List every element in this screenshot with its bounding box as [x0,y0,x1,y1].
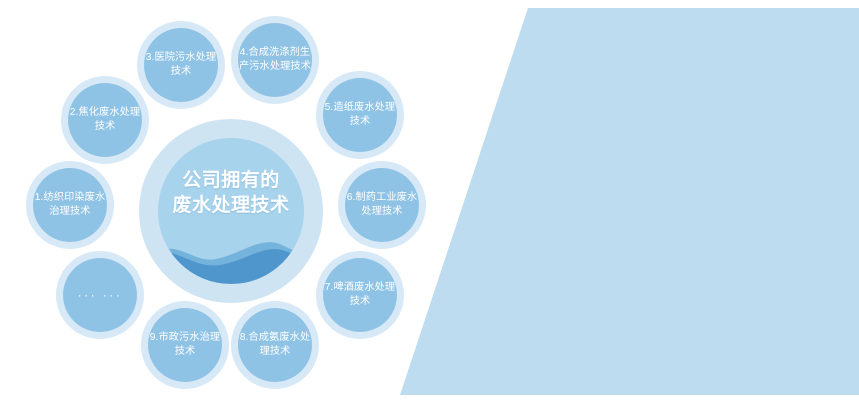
node-7[interactable]: 7.啤酒废水处理技术 [316,251,404,339]
node-6-circle: 6.制药工业废水处理技术 [345,168,419,242]
hub-node[interactable]: 公司拥有的 废水处理技术 [139,119,323,303]
hub-title-line-2: 废水处理技术 [158,193,304,218]
node-4[interactable]: 4.合成洗涤剂生产污水处理技术 [231,16,319,104]
node-6[interactable]: 6.制药工业废水处理技术 [338,161,426,249]
node-3-label: 3.医院污水处理技术 [144,51,218,79]
radial-diagram: 公司拥有的 废水处理技术 1.纺织印染废水治理技术 2.焦化废水处理技术 3.医… [0,0,460,407]
node-more-label: ··· ··· [63,289,137,301]
node-8-circle: 8.合成氨废水处理技术 [238,308,312,382]
node-1[interactable]: 1.纺织印染废水治理技术 [26,161,114,249]
node-1-label: 1.纺织印染废水治理技术 [33,191,107,219]
node-1-circle: 1.纺织印染废水治理技术 [33,168,107,242]
hub-title-line-1: 公司拥有的 [158,168,304,193]
node-more-circle: ··· ··· [63,258,137,332]
node-8[interactable]: 8.合成氨废水处理技术 [231,301,319,389]
node-4-label: 4.合成洗涤剂生产污水处理技术 [238,46,312,74]
node-9-circle: 9.市政污水治理技术 [148,308,222,382]
node-3[interactable]: 3.医院污水处理技术 [137,21,225,109]
node-8-label: 8.合成氨废水处理技术 [238,331,312,359]
node-2[interactable]: 2.焦化废水处理技术 [61,76,149,164]
node-2-label: 2.焦化废水处理技术 [68,106,142,134]
hub-title: 公司拥有的 废水处理技术 [158,168,304,218]
node-5[interactable]: 5.造纸废水处理技术 [316,71,404,159]
node-9-label: 9.市政污水治理技术 [148,331,222,359]
slide-canvas: 公司拥有的 废水处理技术 1.纺织印染废水治理技术 2.焦化废水处理技术 3.医… [0,0,859,407]
node-7-label: 7.啤酒废水处理技术 [323,281,397,309]
hub-node-inner: 公司拥有的 废水处理技术 [158,138,304,284]
panel-shape [400,8,859,395]
node-5-circle: 5.造纸废水处理技术 [323,78,397,152]
node-7-circle: 7.啤酒废水处理技术 [323,258,397,332]
node-more[interactable]: ··· ··· [56,251,144,339]
node-5-label: 5.造纸废水处理技术 [323,101,397,129]
node-3-circle: 3.医院污水处理技术 [144,28,218,102]
node-4-circle: 4.合成洗涤剂生产污水处理技术 [238,23,312,97]
node-6-label: 6.制药工业废水处理技术 [345,191,419,219]
node-9[interactable]: 9.市政污水治理技术 [141,301,229,389]
node-2-circle: 2.焦化废水处理技术 [68,83,142,157]
